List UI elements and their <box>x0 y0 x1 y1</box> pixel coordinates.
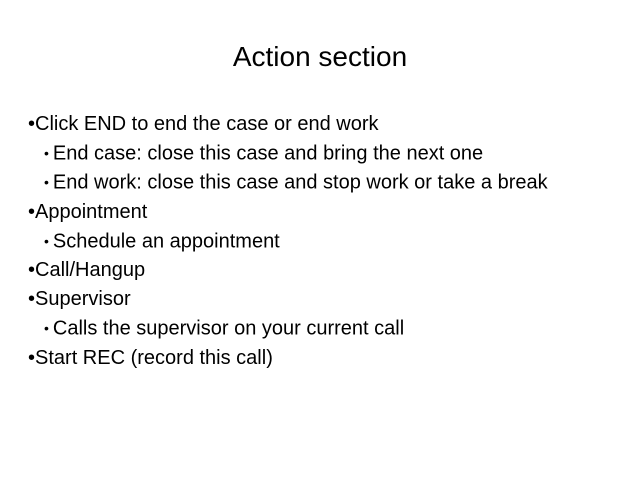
bullet-item-level-1: •Appointment <box>28 198 612 227</box>
page-title: Action section <box>0 40 640 74</box>
bullet-item-level-2: •End case: close this case and bring the… <box>28 139 612 168</box>
bullet-text: Start REC (record this call) <box>35 347 273 369</box>
bullet-item-level-2: •Schedule an appointment <box>28 227 612 256</box>
bullet-text: End case: close this case and bring the … <box>53 142 483 164</box>
bullet-dot-icon: • <box>44 145 49 161</box>
bullet-dot-icon: • <box>44 174 49 190</box>
bullet-text: Call/Hangup <box>35 259 145 281</box>
bullet-dot-icon: • <box>28 347 35 369</box>
bullet-dot-icon: • <box>28 113 35 135</box>
bullet-text: Calls the supervisor on your current cal… <box>53 318 404 340</box>
bullet-dot-icon: • <box>28 201 35 223</box>
bullet-text: End work: close this case and stop work … <box>53 172 548 194</box>
bullet-item-level-1: •Click END to end the case or end work <box>28 110 612 139</box>
bullet-text: Click END to end the case or end work <box>35 113 379 135</box>
bullet-dot-icon: • <box>44 320 49 336</box>
slide-body-content: •Click END to end the case or end work•E… <box>28 110 612 373</box>
bullet-text: Appointment <box>35 201 147 223</box>
bullet-item-level-2: •Calls the supervisor on your current ca… <box>28 314 612 343</box>
bullet-item-level-2: •End work: close this case and stop work… <box>28 168 612 197</box>
bullet-text: Supervisor <box>35 288 131 310</box>
bullet-dot-icon: • <box>28 288 35 310</box>
bullet-item-level-1: •Call/Hangup <box>28 256 612 285</box>
bullet-item-level-1: •Start REC (record this call) <box>28 344 612 373</box>
bullet-item-level-1: •Supervisor <box>28 285 612 314</box>
presentation-slide: Action section •Click END to end the cas… <box>0 0 640 480</box>
bullet-dot-icon: • <box>44 233 49 249</box>
bullet-text: Schedule an appointment <box>53 230 280 252</box>
bullet-dot-icon: • <box>28 259 35 281</box>
